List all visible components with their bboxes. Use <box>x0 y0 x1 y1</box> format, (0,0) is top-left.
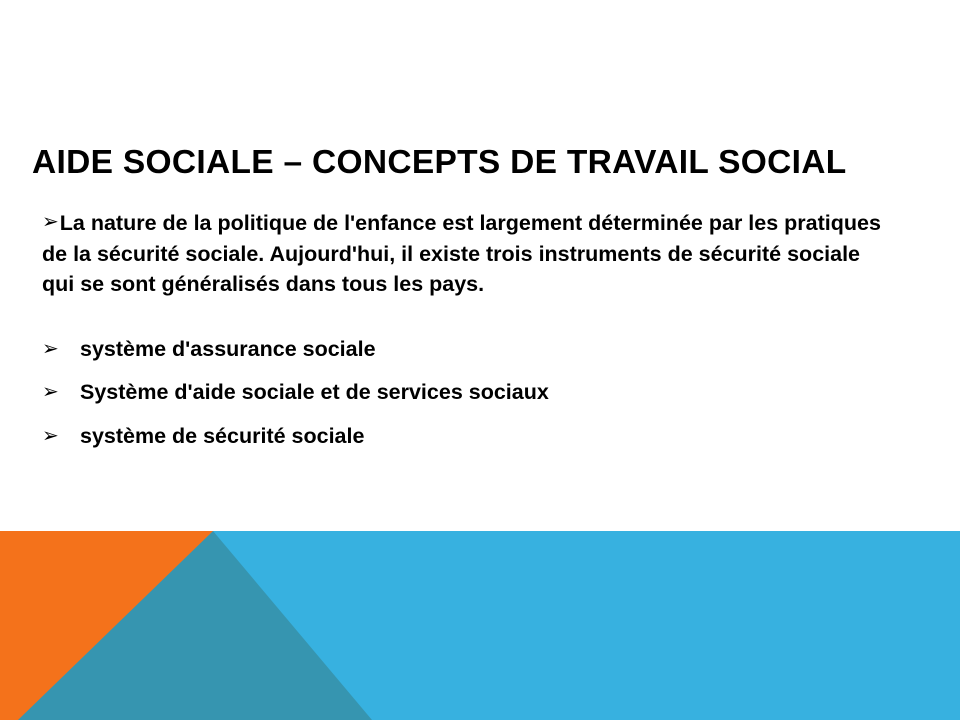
list-item: ➢ système d'assurance sociale <box>42 336 922 363</box>
list-item-label: Système d'aide sociale et de services so… <box>80 379 922 406</box>
arrowhead-bullet-icon: ➢ <box>42 336 80 362</box>
list-item-label: système de sécurité sociale <box>80 423 922 450</box>
instrument-list: ➢ système d'assurance sociale ➢ Système … <box>42 336 922 451</box>
slide-body: ➢ La nature de la politique de l'enfance… <box>42 208 922 467</box>
footer-decorative-graphic <box>0 531 960 720</box>
arrowhead-bullet-icon: ➢ <box>42 379 80 405</box>
arrowhead-bullet-icon: ➢ <box>42 208 59 238</box>
page-title: AIDE SOCIALE – CONCEPTS DE TRAVAIL SOCIA… <box>32 144 932 183</box>
arrowhead-bullet-icon: ➢ <box>42 423 80 449</box>
footer-graphic-svg <box>0 531 960 720</box>
slide: AIDE SOCIALE – CONCEPTS DE TRAVAIL SOCIA… <box>0 0 960 720</box>
list-item: ➢ Système d'aide sociale et de services … <box>42 379 922 406</box>
list-item-label: système d'assurance sociale <box>80 336 922 363</box>
intro-paragraph-text: La nature de la politique de l'enfance e… <box>42 208 887 300</box>
intro-paragraph: ➢ La nature de la politique de l'enfance… <box>42 208 887 300</box>
list-item: ➢ système de sécurité sociale <box>42 423 922 450</box>
